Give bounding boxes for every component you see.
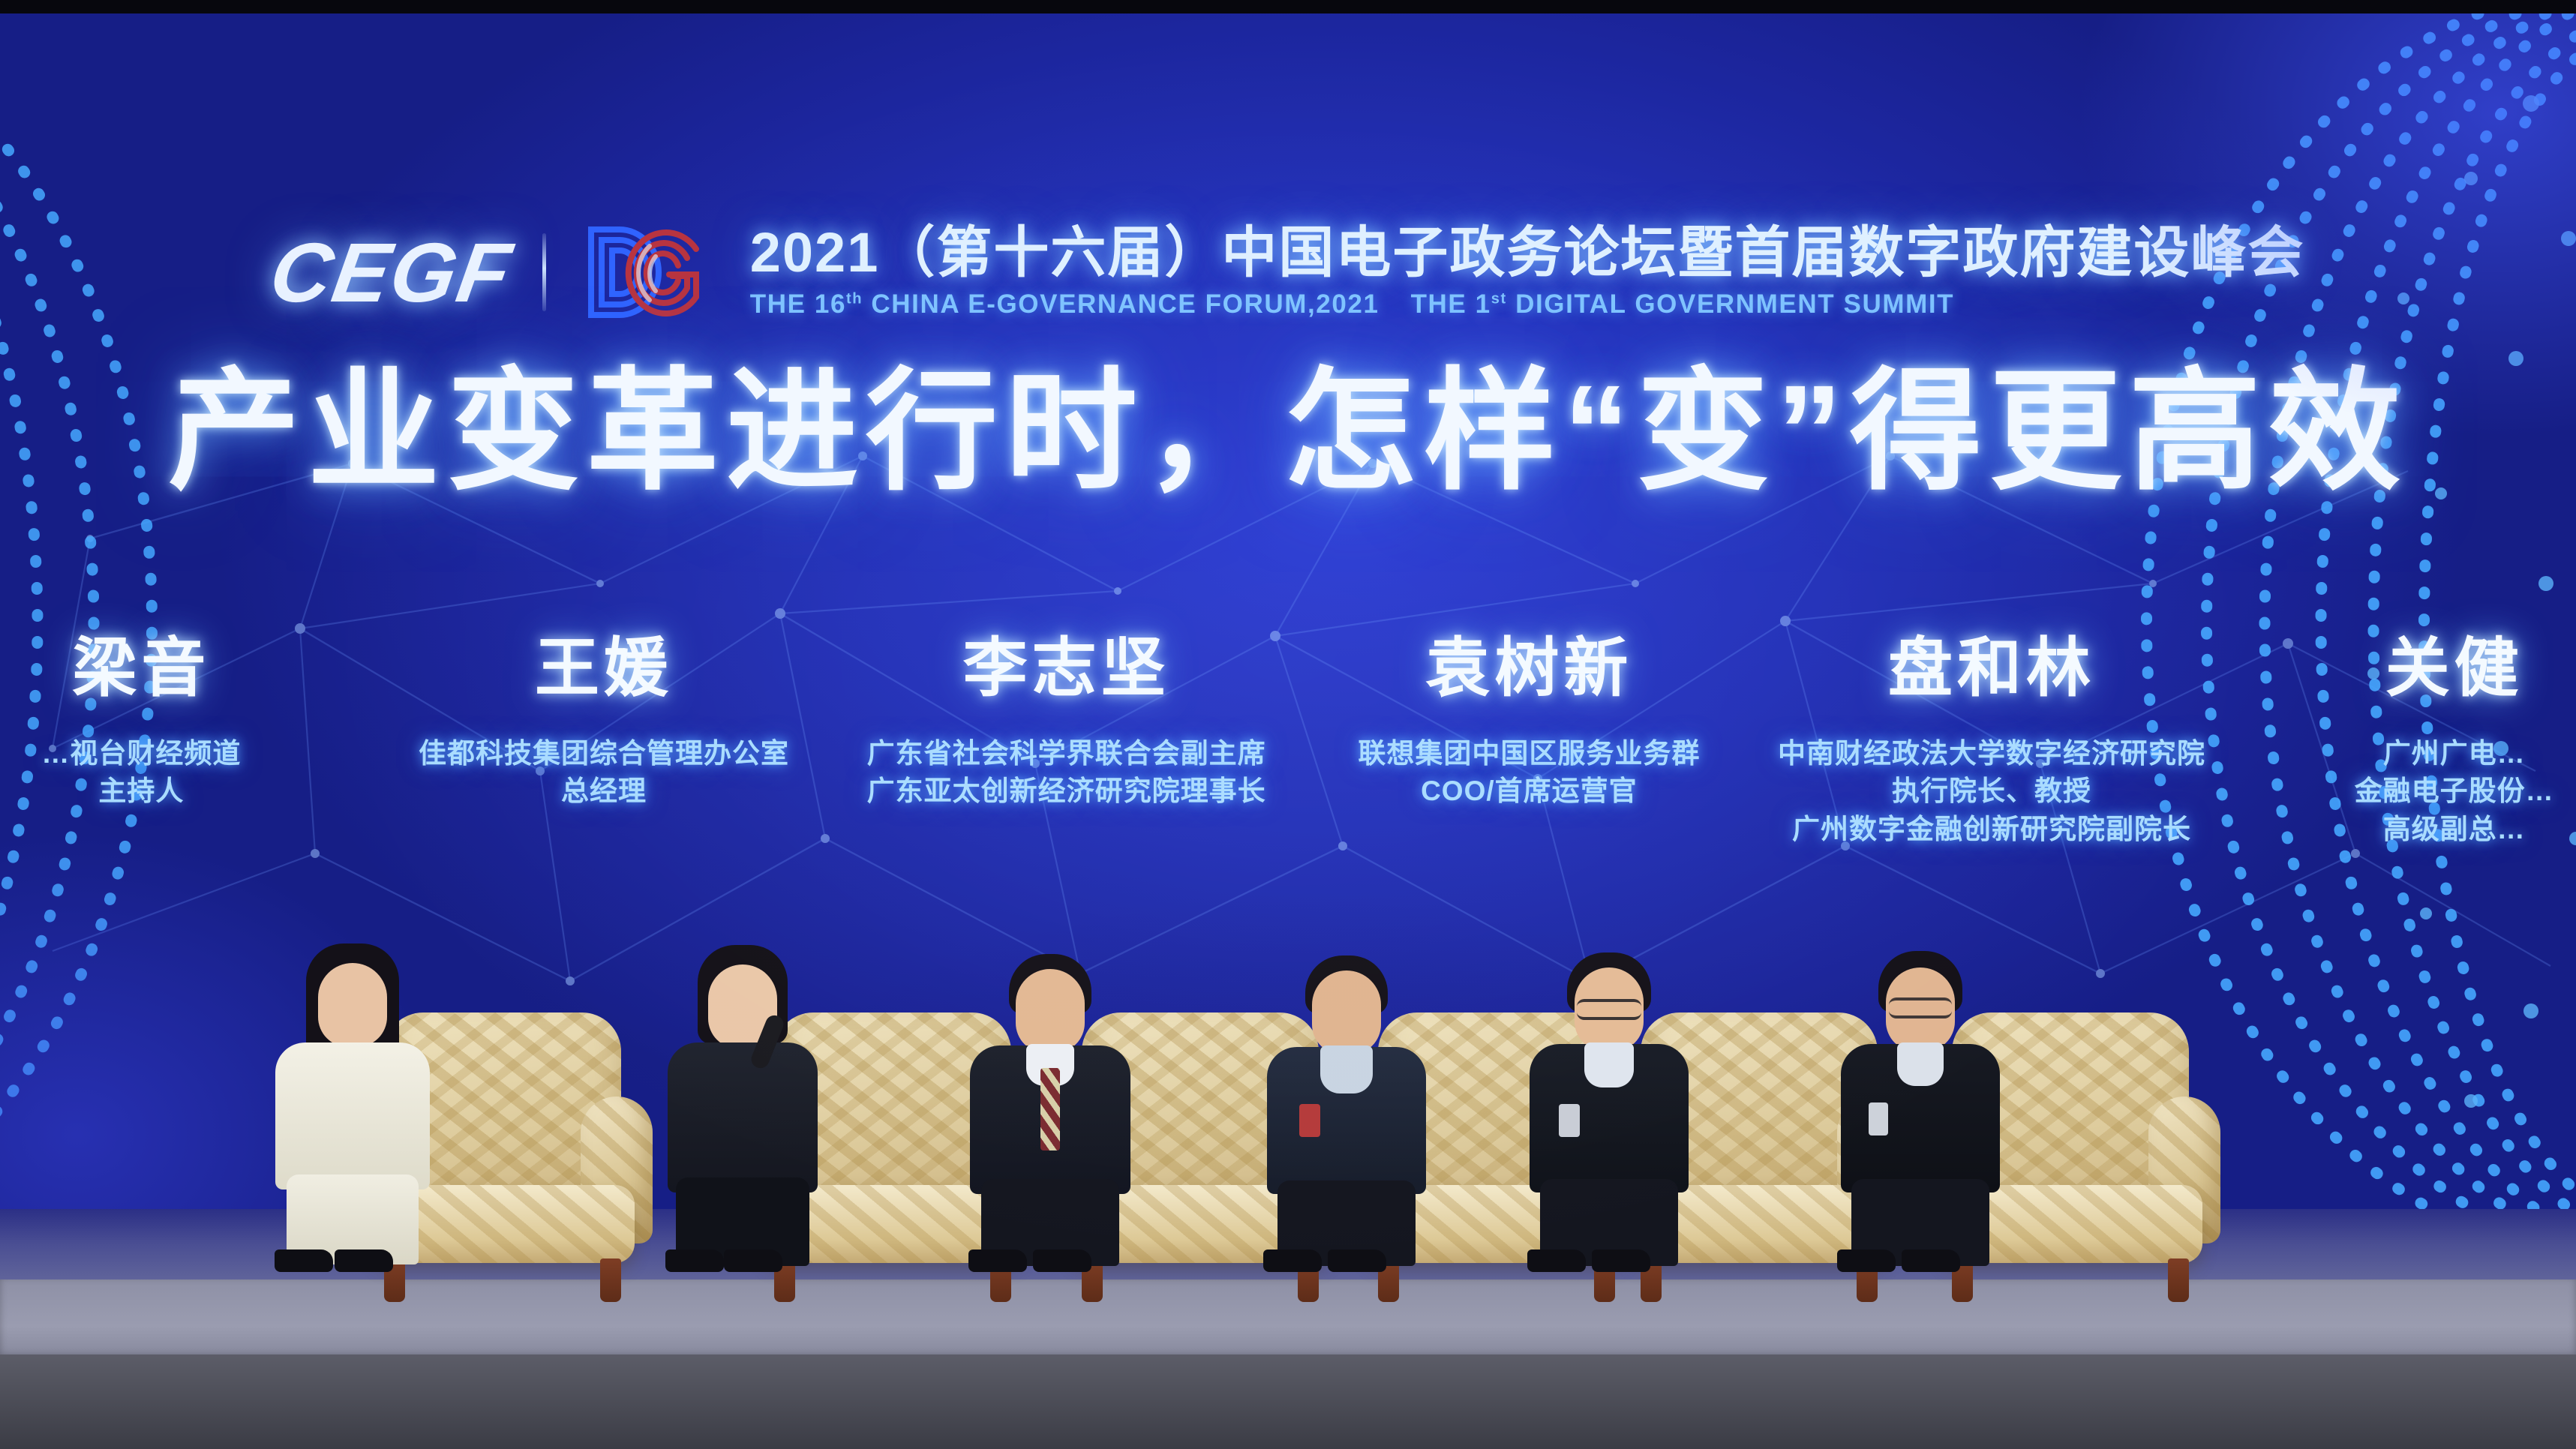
event-subtitle-en: THE 16th CHINA E-GOVERNANCE FORUM,2021 T… bbox=[750, 289, 2305, 319]
panelist-entry: 关健 广州广电… 金融电子股份… 高级副总… bbox=[2223, 636, 2576, 848]
panelist-entry: 梁音 …视台财经频道 主持人 bbox=[0, 636, 373, 811]
shoe-right bbox=[724, 1249, 782, 1272]
event-header: CEGF bbox=[0, 205, 2576, 340]
panelist-role: 广东省社会科学界联合会副主席 广东亚太创新经济研究院理事长 bbox=[841, 735, 1292, 811]
eyeglasses-icon bbox=[1889, 997, 1952, 1018]
lanyard-badge bbox=[1299, 1104, 1320, 1137]
panelist-entry: 盘和林 中南财经政法大学数字经济研究院 执行院长、教授 广州数字金融创新研究院副… bbox=[1761, 636, 2223, 848]
session-headline: 产业变革进行时，怎样“变”得更高效 bbox=[0, 358, 2576, 506]
chair-leg-right bbox=[600, 1258, 621, 1302]
shirt-collar bbox=[1584, 1042, 1634, 1087]
conference-photo: CEGF bbox=[0, 0, 2576, 1449]
panelist-name: 盘和林 bbox=[1767, 636, 2217, 700]
panelist-name: 王媛 bbox=[379, 636, 830, 700]
event-title-block: 2021（第十六届）中国电子政务论坛暨首届数字政府建设峰会 THE 16th C… bbox=[750, 225, 2305, 319]
shoe-left bbox=[968, 1249, 1027, 1272]
torso bbox=[668, 1042, 818, 1192]
panelist-role: …视台财经频道 主持人 bbox=[0, 735, 367, 811]
head bbox=[318, 963, 387, 1047]
subtitle-en-line-2: THE 1st DIGITAL GOVERNMENT SUMMIT bbox=[1411, 289, 1955, 319]
panelist-name: 袁树新 bbox=[1304, 636, 1755, 700]
shoe-left bbox=[1837, 1249, 1896, 1272]
panelist-entry: 袁树新 联想集团中国区服务业务群 COO/首席运营官 bbox=[1298, 636, 1761, 811]
lanyard-badge bbox=[1559, 1104, 1580, 1137]
person-figure bbox=[649, 949, 836, 1272]
panelist-name: 关健 bbox=[2229, 636, 2576, 700]
head bbox=[1016, 969, 1085, 1053]
necktie bbox=[1040, 1068, 1060, 1150]
shoe-left bbox=[275, 1249, 333, 1272]
panelist-role: 佳都科技集团综合管理办公室 总经理 bbox=[379, 735, 830, 811]
head bbox=[1312, 970, 1381, 1054]
shoe-right bbox=[1902, 1249, 1960, 1272]
panelist-role: 中南财经政法大学数字经济研究院 执行院长、教授 广州数字金融创新研究院副院长 bbox=[1767, 735, 2217, 848]
shoe-right bbox=[335, 1249, 393, 1272]
subtitle-en-line-1: THE 16th CHINA E-GOVERNANCE FORUM,2021 bbox=[750, 289, 1380, 319]
shoe-right bbox=[1592, 1249, 1650, 1272]
shoe-left bbox=[665, 1249, 724, 1272]
panelist-role: 广州广电… 金融电子股份… 高级副总… bbox=[2229, 735, 2576, 848]
torso bbox=[275, 1042, 430, 1189]
stage-front-edge bbox=[0, 1354, 2576, 1449]
person-figure bbox=[956, 949, 1144, 1272]
panelist-name-strip: 梁音 …视台财经频道 主持人 王媛 佳都科技集团综合管理办公室 总经理 李志坚 … bbox=[0, 636, 2576, 883]
person-figure bbox=[1515, 949, 1703, 1272]
eyeglasses-icon bbox=[1577, 999, 1641, 1020]
person-figure bbox=[1253, 949, 1440, 1272]
dg-emblem-icon bbox=[578, 216, 720, 328]
panelist-name: 梁音 bbox=[0, 636, 367, 700]
lanyard-badge bbox=[1869, 1102, 1888, 1135]
event-title-cn: 2021（第十六届）中国电子政务论坛暨首届数字政府建设峰会 bbox=[750, 225, 2305, 280]
panelist-name: 李志坚 bbox=[841, 636, 1292, 700]
shirt-collar bbox=[1320, 1045, 1373, 1093]
panelist-entry: 李志坚 广东省社会科学界联合会副主席 广东亚太创新经济研究院理事长 bbox=[835, 636, 1298, 811]
shoe-left bbox=[1527, 1249, 1586, 1272]
shoe-right bbox=[1328, 1249, 1386, 1272]
person-figure bbox=[1827, 949, 2014, 1272]
shoe-right bbox=[1033, 1249, 1091, 1272]
shoe-left bbox=[1263, 1249, 1322, 1272]
panelist-role: 联想集团中国区服务业务群 COO/首席运营官 bbox=[1304, 735, 1755, 811]
person-figure bbox=[255, 949, 450, 1272]
cegf-wordmark: CEGF bbox=[263, 224, 518, 321]
shirt-collar bbox=[1897, 1042, 1944, 1086]
chair-leg-right bbox=[2168, 1258, 2189, 1302]
header-divider bbox=[542, 233, 546, 311]
panelist-entry: 王媛 佳都科技集团综合管理办公室 总经理 bbox=[373, 636, 836, 811]
